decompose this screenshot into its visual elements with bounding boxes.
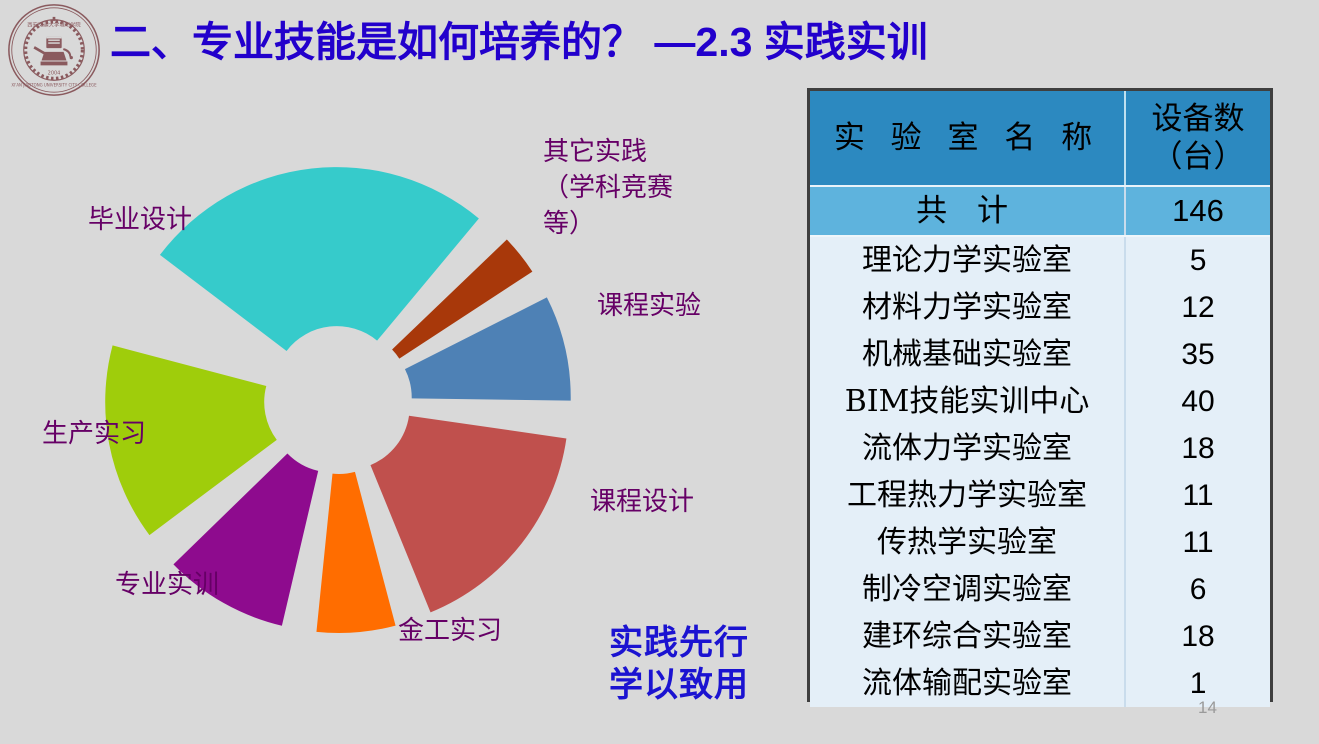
cell-lab-name: 流体力学实验室 — [810, 425, 1125, 472]
pie-label-课程设计: 课程设计 — [590, 484, 780, 520]
column-header-equipment-count-line2: （台） — [1130, 138, 1266, 176]
table-head: 实 验 室 名 称 设备数 （台） — [810, 91, 1270, 186]
cell-lab-name: 传热学实验室 — [810, 519, 1125, 566]
column-header-equipment-count: 设备数 （台） — [1125, 91, 1270, 186]
pie-slice-课程实验 — [405, 297, 571, 400]
page-number: 14 — [1198, 698, 1217, 718]
cell-equipment-count: 146 — [1125, 186, 1270, 236]
cell-lab-name: BIM技能实训中心 — [810, 378, 1125, 425]
table-row: 机械基础实验室35 — [810, 331, 1270, 378]
pie-label-其它实践: 其它实践 （学科竞赛 等） — [543, 134, 733, 242]
table-body: 共 计146理论力学实验室5材料力学实验室12机械基础实验室35BIM技能实训中… — [810, 186, 1270, 707]
pie-label-生产实习: 生产实习 — [42, 416, 232, 452]
lab-equipment-table-container: 实 验 室 名 称 设备数 （台） 共 计146理论力学实验室5材料力学实验室1… — [807, 88, 1273, 702]
cell-equipment-count: 18 — [1125, 425, 1270, 472]
cell-lab-name: 流体输配实验室 — [810, 660, 1125, 707]
pie-label-金工实习: 金工实习 — [398, 613, 588, 649]
pie-slice-课程设计 — [370, 416, 566, 613]
slogan-block: 实践先行 学以致用 — [584, 622, 774, 706]
logo-cn-text: 西安交通大学城市学院 — [27, 20, 81, 28]
pie-label-毕业设计: 毕业设计 — [88, 202, 268, 238]
table-row: 共 计146 — [810, 186, 1270, 236]
cell-equipment-count: 6 — [1125, 566, 1270, 613]
slogan-line-2: 学以致用 — [584, 664, 774, 706]
table-row: 流体力学实验室18 — [810, 425, 1270, 472]
column-header-lab-name: 实 验 室 名 称 — [810, 91, 1125, 186]
cell-equipment-count: 35 — [1125, 331, 1270, 378]
cell-lab-name: 建环综合实验室 — [810, 613, 1125, 660]
logo-year: 2004 — [48, 70, 61, 76]
table-row: 理论力学实验室5 — [810, 236, 1270, 284]
cell-lab-name: 材料力学实验室 — [810, 284, 1125, 331]
university-seal-logo: 西安交通大学城市学院 2004 XI'AN JIAOTONG UNIVERSIT… — [6, 2, 102, 98]
column-header-lab-name-text: 实 验 室 名 称 — [834, 120, 1100, 156]
slide-canvas: 西安交通大学城市学院 2004 XI'AN JIAOTONG UNIVERSIT… — [0, 0, 1319, 744]
cell-lab-name: 制冷空调实验室 — [810, 566, 1125, 613]
table-header-row: 实 验 室 名 称 设备数 （台） — [810, 91, 1270, 186]
pie-label-课程实验: 课程实验 — [597, 288, 787, 324]
cell-lab-name: 理论力学实验室 — [810, 236, 1125, 284]
cell-equipment-count: 12 — [1125, 284, 1270, 331]
pie-label-专业实训: 专业实训 — [115, 567, 305, 603]
cell-lab-name: 共 计 — [810, 186, 1125, 236]
cell-equipment-count: 40 — [1125, 378, 1270, 425]
column-header-equipment-count-line1: 设备数 — [1130, 100, 1266, 138]
cell-equipment-count: 11 — [1125, 472, 1270, 519]
page-title: 二、专业技能是如何培养的？ —2.3 实践实训 — [110, 12, 810, 74]
cell-lab-name: 工程热力学实验室 — [810, 472, 1125, 519]
slogan-line-1: 实践先行 — [584, 622, 774, 664]
practice-training-pie-chart: 毕业设计 其它实践 （学科竞赛 等） 课程实验 课程设计 金工实习 专业实训 生… — [100, 120, 800, 700]
table-row: 制冷空调实验室6 — [810, 566, 1270, 613]
cell-equipment-count: 5 — [1125, 236, 1270, 284]
lab-equipment-table: 实 验 室 名 称 设备数 （台） 共 计146理论力学实验室5材料力学实验室1… — [810, 91, 1270, 707]
table-row: 建环综合实验室18 — [810, 613, 1270, 660]
cell-equipment-count: 11 — [1125, 519, 1270, 566]
cell-equipment-count: 18 — [1125, 613, 1270, 660]
cell-lab-name: 机械基础实验室 — [810, 331, 1125, 378]
table-row: 工程热力学实验室11 — [810, 472, 1270, 519]
table-row: 材料力学实验室12 — [810, 284, 1270, 331]
table-row: 传热学实验室11 — [810, 519, 1270, 566]
table-row: BIM技能实训中心40 — [810, 378, 1270, 425]
logo-en-text: XI'AN JIAOTONG UNIVERSITY CITY COLLEGE — [11, 82, 97, 87]
